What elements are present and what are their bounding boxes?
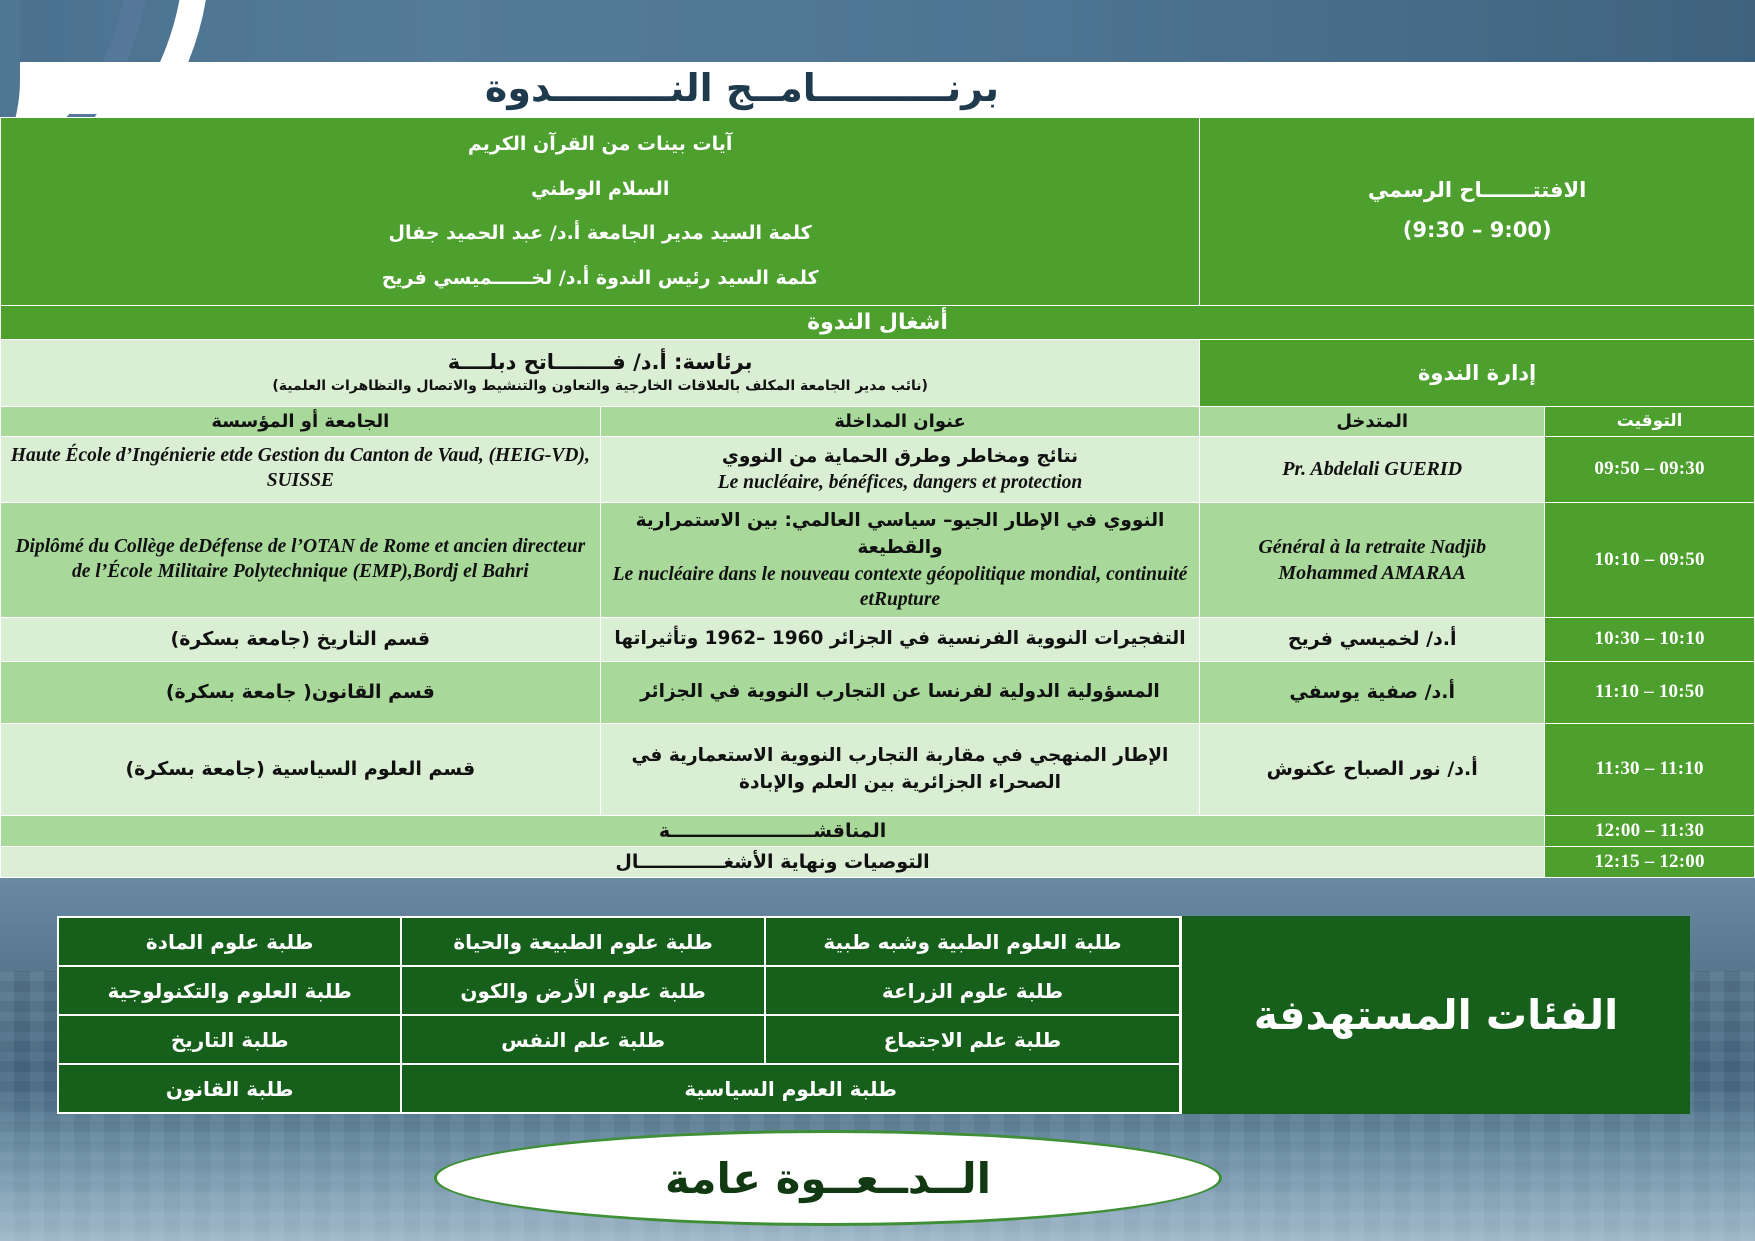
- audience-row: طلبة العلوم الطبية وشبه طبية طلبة علوم ا…: [58, 917, 1181, 966]
- row-speaker: أ.د/ صفية يوسفي: [1200, 661, 1545, 723]
- opening-label-line1: الافتتـــــــاح الرسمي: [1208, 171, 1746, 211]
- opening-item: كلمة السيد رئيس الندوة أ.د/ لخــــــميسي…: [9, 256, 1191, 301]
- audience-row: طلبة العلوم السياسية طلبة القانون: [58, 1064, 1181, 1113]
- table-row: 10:10 – 10:30 أ.د/ لخميسي فريح التفجيرات…: [1, 617, 1755, 661]
- row-talk-arabic: التفجيرات النووية الفرنسية في الجزائر 19…: [609, 625, 1192, 653]
- audience-cell: طلبة القانون: [58, 1064, 401, 1113]
- row-speaker: Pr. Abdelali GUERID: [1200, 436, 1545, 502]
- audience-cell: طلبة علوم المادة: [58, 917, 401, 966]
- column-header-institution: الجامعة أو المؤسسة: [1, 406, 601, 436]
- invitation-badge: الــدــعــوة عامة: [434, 1130, 1222, 1226]
- row-talk-french: Le nucléaire dans le nouveau contexte gé…: [609, 562, 1192, 613]
- column-header-speaker: المتدخل: [1200, 406, 1545, 436]
- target-audience-table: طلبة العلوم الطبية وشبه طبية طلبة علوم ا…: [57, 916, 1182, 1114]
- row-talk-arabic: المسؤولية الدولية لفرنسا عن التجارب النو…: [609, 678, 1192, 706]
- discussion-label: المناقشــــــــــــــــــــــة: [1, 815, 1545, 846]
- audience-cell: طلبة علوم الأرض والكون: [401, 966, 765, 1015]
- table-row: 10:50 – 11:10 أ.د/ صفية يوسفي المسؤولية …: [1, 661, 1755, 723]
- column-header-row: التوقيت المتدخل عنوان المداخلة الجامعة أ…: [1, 406, 1755, 436]
- section-bar-label: أشغال الندوة: [1, 305, 1755, 339]
- row-institution-latin: Haute École d’Ingénierie etde Gestion du…: [9, 444, 592, 494]
- row-time: 12:00 – 12:15: [1545, 846, 1755, 877]
- row-speaker-latin: Général à la retraite Nadjib Mohammed AM…: [1208, 534, 1536, 586]
- chair-subtitle: (نائب مدير الجامعة المكلف بالعلاقات الخا…: [11, 374, 1189, 394]
- opening-item: السلام الوطني: [9, 167, 1191, 212]
- column-header-time: التوقيت: [1545, 406, 1755, 436]
- chair-name: برئاسة: أ.د/ فــــــــاتح دبلــــة: [11, 350, 1189, 374]
- target-audience-section: الفئات المستهدفة طلبة العلوم الطبية وشبه…: [57, 916, 1690, 1114]
- table-row: 09:50 – 10:10 Général à la retraite Nadj…: [1, 502, 1755, 617]
- row-time: 11:30 – 12:00: [1545, 815, 1755, 846]
- audience-cell: طلبة علم الاجتماع: [765, 1015, 1181, 1064]
- table-row-recommendations: 12:00 – 12:15 التوصيات ونهاية الأشغـــــ…: [1, 846, 1755, 877]
- program-table: الافتتـــــــاح الرسمي (9:00 – 9:30) آيا…: [0, 117, 1755, 878]
- row-talk-arabic: الإطار المنهجي في مقاربة التجارب النووية…: [609, 742, 1192, 798]
- row-institution: Haute École d’Ingénierie etde Gestion du…: [1, 436, 601, 502]
- opening-item: كلمة السيد مدير الجامعة أ.د/ عبد الحميد …: [9, 211, 1191, 256]
- row-speaker-arabic: أ.د/ صفية يوسفي: [1208, 681, 1536, 703]
- column-header-talk: عنوان المداخلة: [600, 406, 1200, 436]
- row-time: 09:30 – 09:50: [1545, 436, 1755, 502]
- section-bar-row: أشغال الندوة: [1, 305, 1755, 339]
- row-time: 11:10 – 11:30: [1545, 723, 1755, 815]
- row-talk: نتائج ومخاطر وطرق الحماية من النووي Le n…: [600, 436, 1200, 502]
- row-speaker: أ.د/ لخميسي فريح: [1200, 617, 1545, 661]
- chair-cell: برئاسة: أ.د/ فــــــــاتح دبلــــة (نائب…: [1, 339, 1200, 406]
- row-speaker-arabic: أ.د/ نور الصباح عكنوش: [1208, 758, 1536, 780]
- table-row: 09:30 – 09:50 Pr. Abdelali GUERID نتائج …: [1, 436, 1755, 502]
- table-row: 11:10 – 11:30 أ.د/ نور الصباح عكنوش الإط…: [1, 723, 1755, 815]
- seminar-admin-label: إدارة الندوة: [1200, 339, 1755, 406]
- page-title: برنــــــــــامــج النـــــــــدوة: [62, 58, 1422, 118]
- row-institution-arabic: قسم العلوم السياسية (جامعة بسكرة): [9, 758, 592, 780]
- top-decorative-bar: [0, 0, 1755, 62]
- row-speaker-arabic: أ.د/ لخميسي فريح: [1208, 628, 1536, 650]
- row-institution-latin: Diplômé du Collège deDéfense de l’OTAN d…: [9, 535, 592, 585]
- row-institution: Diplômé du Collège deDéfense de l’OTAN d…: [1, 502, 601, 617]
- audience-cell: طلبة التاريخ: [58, 1015, 401, 1064]
- audience-cell: طلبة علوم الطبيعة والحياة: [401, 917, 765, 966]
- opening-row: الافتتـــــــاح الرسمي (9:00 – 9:30) آيا…: [1, 118, 1755, 306]
- opening-items-cell: آيات بينات من القرآن الكريم السلام الوطن…: [1, 118, 1200, 306]
- audience-cell: طلبة العلوم والتكنولوجية: [58, 966, 401, 1015]
- row-talk: المسؤولية الدولية لفرنسا عن التجارب النو…: [600, 661, 1200, 723]
- row-talk-arabic: النووي في الإطار الجيو– سياسي العالمي: ب…: [609, 507, 1192, 563]
- row-institution-arabic: قسم القانون( جامعة بسكرة): [9, 681, 592, 703]
- target-audience-title: الفئات المستهدفة: [1182, 916, 1690, 1114]
- row-talk-french: Le nucléaire, bénéfices, dangers et prot…: [609, 470, 1192, 495]
- audience-row: طلبة علم الاجتماع طلبة علم النفس طلبة ال…: [58, 1015, 1181, 1064]
- audience-cell: طلبة العلوم الطبية وشبه طبية: [765, 917, 1181, 966]
- row-institution-arabic: قسم التاريخ (جامعة بسكرة): [9, 628, 592, 650]
- row-talk: الإطار المنهجي في مقاربة التجارب النووية…: [600, 723, 1200, 815]
- chair-row: إدارة الندوة برئاسة: أ.د/ فــــــــاتح د…: [1, 339, 1755, 406]
- row-speaker: Général à la retraite Nadjib Mohammed AM…: [1200, 502, 1545, 617]
- row-time: 10:10 – 10:30: [1545, 617, 1755, 661]
- row-talk: التفجيرات النووية الفرنسية في الجزائر 19…: [600, 617, 1200, 661]
- audience-cell: طلبة علم النفس: [401, 1015, 765, 1064]
- table-row-discussion: 11:30 – 12:00 المناقشـــــــــــــــــــ…: [1, 815, 1755, 846]
- opening-label-line2: (9:00 – 9:30): [1208, 211, 1746, 251]
- opening-label-cell: الافتتـــــــاح الرسمي (9:00 – 9:30): [1200, 118, 1755, 306]
- row-institution: قسم القانون( جامعة بسكرة): [1, 661, 601, 723]
- row-talk: النووي في الإطار الجيو– سياسي العالمي: ب…: [600, 502, 1200, 617]
- recommendations-label: التوصيات ونهاية الأشغـــــــــــــال: [1, 846, 1545, 877]
- row-institution: قسم العلوم السياسية (جامعة بسكرة): [1, 723, 601, 815]
- row-time: 10:50 – 11:10: [1545, 661, 1755, 723]
- opening-item: آيات بينات من القرآن الكريم: [9, 122, 1191, 167]
- audience-row: طلبة علوم الزراعة طلبة علوم الأرض والكون…: [58, 966, 1181, 1015]
- audience-cell: طلبة علوم الزراعة: [765, 966, 1181, 1015]
- row-speaker: أ.د/ نور الصباح عكنوش: [1200, 723, 1545, 815]
- row-speaker-latin: Pr. Abdelali GUERID: [1208, 456, 1536, 482]
- row-time: 09:50 – 10:10: [1545, 502, 1755, 617]
- invitation-text: الــدــعــوة عامة: [665, 1154, 991, 1203]
- row-institution: قسم التاريخ (جامعة بسكرة): [1, 617, 601, 661]
- audience-cell: طلبة العلوم السياسية: [401, 1064, 1180, 1113]
- row-talk-arabic: نتائج ومخاطر وطرق الحماية من النووي: [609, 443, 1192, 471]
